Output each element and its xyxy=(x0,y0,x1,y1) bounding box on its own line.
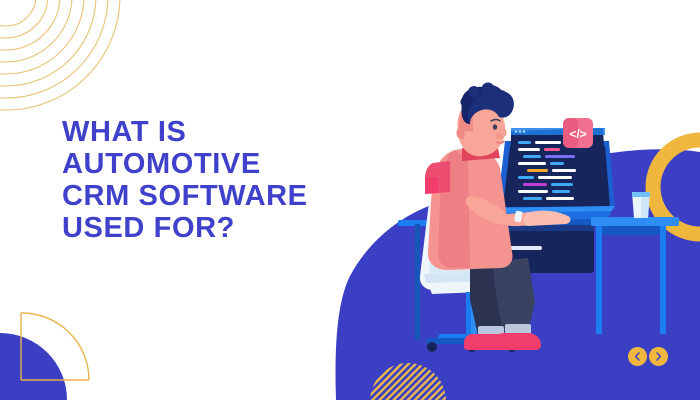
headline-line-2: AUTOMOTIVE xyxy=(62,148,362,180)
glass-of-water xyxy=(632,192,650,218)
code-badge-label: </> xyxy=(569,127,586,141)
shoe-front xyxy=(495,333,541,350)
chevron-right-icon xyxy=(654,352,663,361)
side-table xyxy=(591,217,679,334)
code-badge: </> xyxy=(563,118,593,148)
person xyxy=(425,83,570,351)
headline-line-4: USED FOR? xyxy=(62,212,362,244)
eye xyxy=(493,124,497,130)
headline-line-1: WHAT IS xyxy=(62,116,362,148)
previous-slide-button[interactable] xyxy=(628,347,647,366)
headline: WHAT IS AUTOMOTIVE CRM SOFTWARE USED FOR… xyxy=(62,116,362,244)
next-slide-button[interactable] xyxy=(649,347,668,366)
slide-canvas: </> xyxy=(0,0,700,400)
headline-line-3: CRM SOFTWARE xyxy=(62,180,362,212)
chevron-left-icon xyxy=(633,352,642,361)
